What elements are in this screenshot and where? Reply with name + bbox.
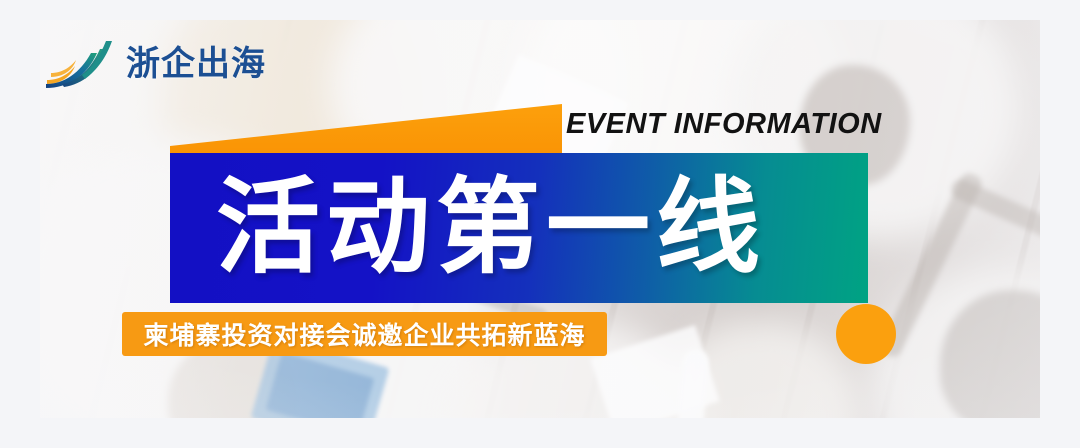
event-poster: 浙企出海 EVENT INFORMATION 活动第一线 柬埔寨投资对接会诚邀企…: [0, 0, 1080, 448]
subtitle-bar: 柬埔寨投资对接会诚邀企业共拓新蓝海: [122, 312, 607, 356]
eyebrow-text: EVENT INFORMATION: [566, 108, 882, 141]
headline-banner: 活动第一线: [170, 153, 868, 303]
brand-name: 浙企出海: [126, 47, 266, 81]
swoosh-wave-logo-icon: [44, 39, 118, 89]
headline-text: 活动第一线: [216, 176, 766, 280]
brand-logo: 浙企出海: [44, 38, 266, 90]
orange-circle-dot-icon: [836, 304, 896, 364]
subtitle-text: 柬埔寨投资对接会诚邀企业共拓新蓝海: [143, 316, 585, 352]
